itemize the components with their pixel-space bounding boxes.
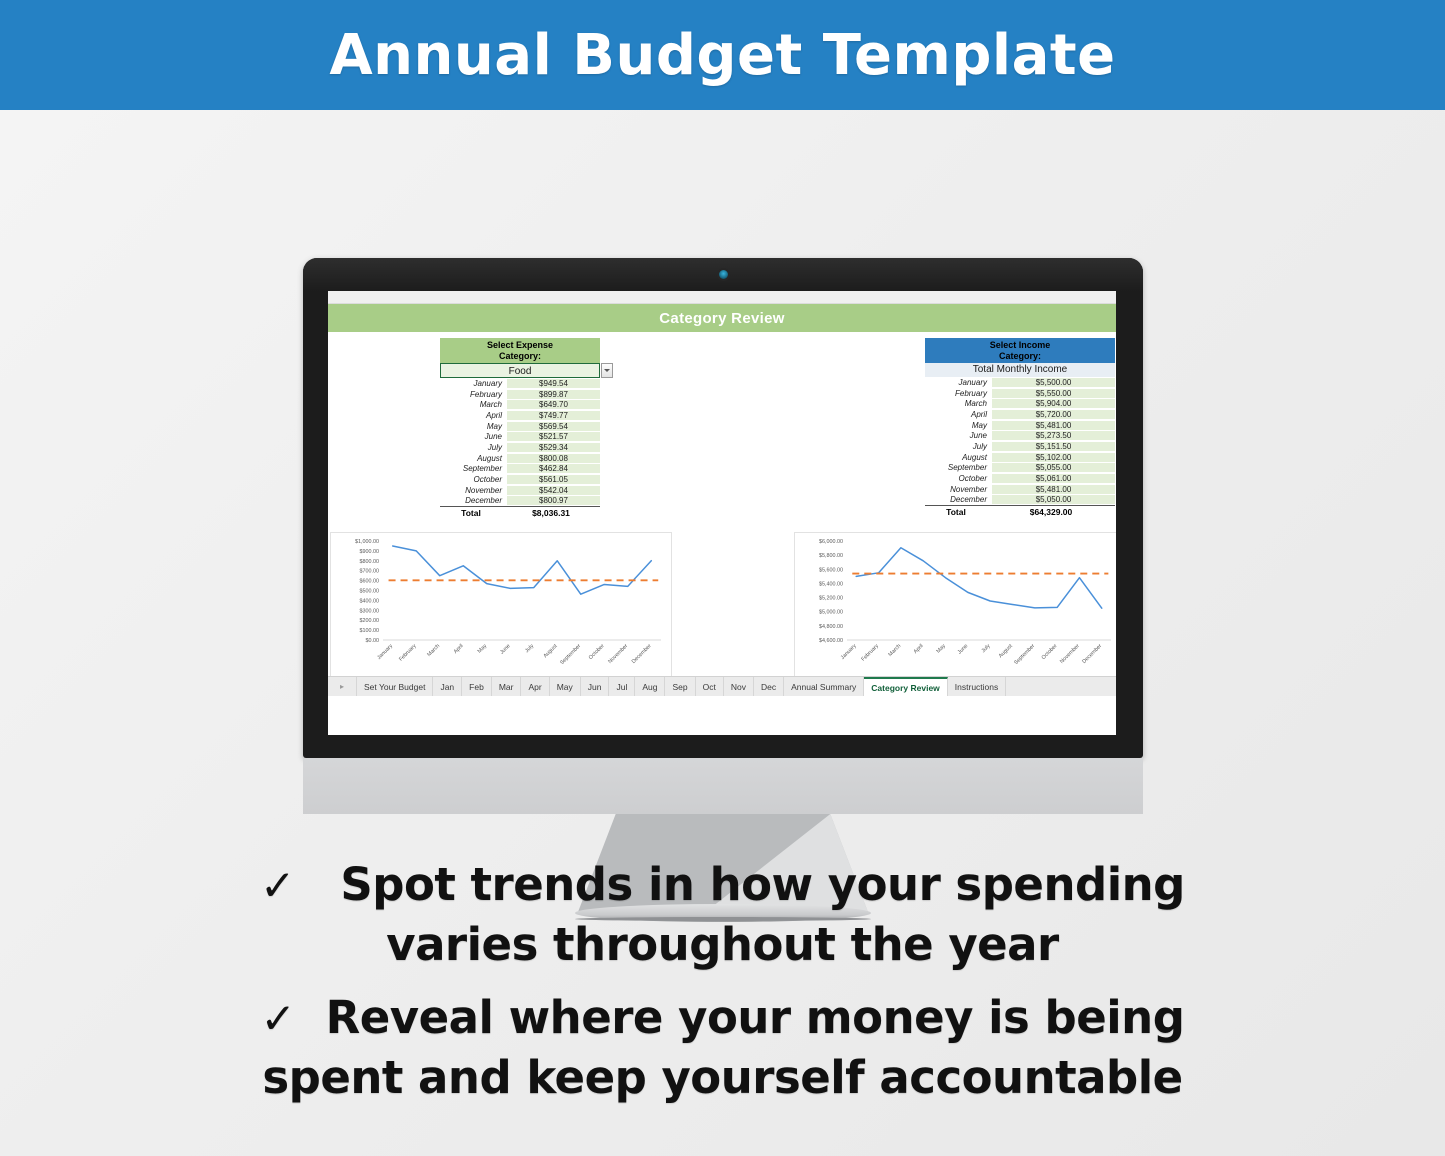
sheet-tab-mar[interactable]: Mar [492,677,522,696]
svg-text:$5,000.00: $5,000.00 [819,610,843,616]
svg-text:August: August [543,643,559,659]
feature-bullets: ✓ Spot trends in how your spending varie… [0,855,1445,1107]
month-label: June [925,431,992,440]
month-label: December [440,496,507,505]
month-value: $5,151.50 [992,442,1115,451]
month-value: $561.05 [507,475,600,484]
monitor-mockup: Category Review Select Expense Category:… [303,258,1143,758]
svg-text:$4,800.00: $4,800.00 [819,624,843,630]
table-row: February$5,550.00 [925,388,1115,399]
svg-text:$5,200.00: $5,200.00 [819,596,843,602]
sheet-tab-jan[interactable]: Jan [433,677,462,696]
sheet-tab-label: Jun [588,682,602,692]
table-row: March$5,904.00 [925,398,1115,409]
svg-text:March: March [887,643,902,658]
svg-text:December: December [631,643,653,665]
chevron-down-icon [604,369,610,372]
svg-text:November: November [1059,643,1081,665]
month-value: $949.54 [507,379,600,388]
table-row: January$5,500.00 [925,377,1115,388]
svg-text:January: January [840,643,858,661]
svg-text:$5,600.00: $5,600.00 [819,567,843,573]
table-row: September$5,055.00 [925,463,1115,474]
table-row: May$569.54 [440,421,600,432]
income-total-row: Total $64,329.00 [925,505,1115,518]
svg-text:$5,400.00: $5,400.00 [819,581,843,587]
table-row: April$749.77 [440,410,600,421]
sheet-tab-dec[interactable]: Dec [754,677,784,696]
sheet-tab-instructions[interactable]: Instructions [948,677,1006,696]
svg-text:$800.00: $800.00 [360,559,380,565]
month-label: September [925,463,992,472]
svg-text:April: April [453,643,465,655]
sheet-title-text: Category Review [659,310,784,327]
bullet-1: ✓ Spot trends in how your spending varie… [0,855,1445,974]
svg-text:$400.00: $400.00 [360,598,380,604]
table-row: October$561.05 [440,474,600,485]
month-value: $749.77 [507,411,600,420]
sheet-tabs: Set Your BudgetJanFebMarAprMayJunJulAugS… [357,677,1006,696]
income-category-select-row: Total Monthly Income [925,363,1115,377]
expense-chart[interactable]: $1,000.00$900.00$800.00$700.00$600.00$50… [330,532,672,679]
month-value: $569.54 [507,422,600,431]
month-label: April [925,410,992,419]
check-icon: ✓ [261,994,296,1043]
svg-text:August: August [998,643,1014,659]
table-row: August$800.08 [440,453,600,464]
svg-text:$200.00: $200.00 [360,618,380,624]
expense-panel-header: Select Expense Category: [440,338,600,363]
expense-total-value: $8,036.31 [502,508,600,518]
svg-text:$5,800.00: $5,800.00 [819,553,843,559]
month-value: $800.08 [507,454,600,463]
month-label: June [440,432,507,441]
sheet-tab-may[interactable]: May [550,677,581,696]
table-row: May$5,481.00 [925,420,1115,431]
table-row: August$5,102.00 [925,452,1115,463]
tab-nav-chevron-right-icon[interactable]: ▸ [328,677,357,696]
table-row: December$5,050.00 [925,495,1115,506]
screen-content: Category Review Select Expense Category:… [328,291,1116,735]
month-label: March [925,399,992,408]
sheet-tab-label: Jul [616,682,627,692]
income-chart[interactable]: $6,000.00$5,800.00$5,600.00$5,400.00$5,2… [794,532,1116,679]
svg-text:$600.00: $600.00 [360,579,380,585]
month-value: $5,481.00 [992,421,1115,430]
bullet-2-line2: spent and keep yourself accountable [0,1048,1445,1107]
svg-text:June: June [499,643,512,656]
month-value: $5,273.50 [992,431,1115,440]
sheet-tab-label: Annual Summary [791,682,856,692]
sheet-tab-nov[interactable]: Nov [724,677,754,696]
svg-text:$100.00: $100.00 [360,628,380,634]
table-row: June$5,273.50 [925,430,1115,441]
svg-text:July: July [981,643,992,654]
svg-text:June: June [957,643,970,656]
month-label: April [440,411,507,420]
month-label: February [925,389,992,398]
bullet-1-line2: varies throughout the year [0,915,1445,974]
month-value: $529.34 [507,443,600,452]
income-category-select[interactable]: Total Monthly Income [925,363,1115,377]
month-label: August [925,453,992,462]
svg-text:October: October [1041,643,1059,661]
month-label: May [925,421,992,430]
expense-header-line2: Category: [442,351,598,362]
sheet-tab-aug[interactable]: Aug [635,677,665,696]
month-value: $542.04 [507,486,600,495]
check-icon: ✓ [260,861,295,910]
svg-text:September: September [559,643,582,666]
table-row: December$800.97 [440,496,600,507]
svg-text:December: December [1081,643,1103,665]
sheet-tab-jun[interactable]: Jun [581,677,610,696]
month-label: November [925,485,992,494]
sheet-tab-label: Feb [469,682,484,692]
svg-text:March: March [426,643,441,658]
webcam-icon [719,270,728,279]
sheet-tab-set-your-budget[interactable]: Set Your Budget [357,677,433,696]
sheet-tab-oct[interactable]: Oct [696,677,724,696]
month-value: $5,481.00 [992,485,1115,494]
income-total-label: Total [925,507,987,517]
income-panel-header: Select Income Category: [925,338,1115,363]
svg-text:$700.00: $700.00 [360,569,380,575]
bullet-2-text1: Reveal where your money is being [326,991,1185,1044]
month-value: $462.84 [507,464,600,473]
month-label: November [440,486,507,495]
sheet-tab-label: Sep [672,682,687,692]
month-label: February [440,390,507,399]
svg-text:$1,000.00: $1,000.00 [355,539,379,545]
month-label: September [440,464,507,473]
expense-dropdown-button[interactable] [601,363,613,378]
svg-text:$500.00: $500.00 [360,589,380,595]
month-value: $800.97 [507,496,600,505]
month-label: October [925,474,992,483]
income-header-line1: Select Income [927,340,1113,351]
table-row: July$529.34 [440,442,600,453]
svg-text:February: February [398,643,418,663]
svg-text:September: September [1013,643,1036,666]
sheet-title-banner: Category Review [328,304,1116,332]
month-label: July [925,442,992,451]
expense-month-rows: January$949.54 February$899.87 March$649… [440,378,600,506]
month-value: $899.87 [507,390,600,399]
income-category-panel: Select Income Category: Total Monthly In… [925,338,1115,518]
table-row: November$5,481.00 [925,484,1115,495]
sheet-tab-label: May [557,682,573,692]
bullet-2: ✓ Reveal where your money is being spent… [0,988,1445,1107]
expense-total-row: Total $8,036.31 [440,506,600,519]
sheet-tab-label: Dec [761,682,776,692]
svg-text:October: October [588,643,606,661]
svg-text:May: May [935,643,947,655]
table-row: June$521.57 [440,431,600,442]
sheet-tab-label: Oct [703,682,716,692]
month-value: $5,050.00 [992,495,1115,504]
income-month-rows: January$5,500.00 February$5,550.00 March… [925,377,1115,505]
table-row: April$5,720.00 [925,409,1115,420]
month-label: January [440,379,507,388]
month-value: $5,061.00 [992,474,1115,483]
page-banner: Annual Budget Template [0,0,1445,110]
month-label: May [440,422,507,431]
table-row: September$462.84 [440,464,600,475]
spreadsheet-top-strip [328,291,1116,304]
svg-text:July: July [524,643,535,654]
sheet-tab-label: Category Review [871,683,940,693]
page-title: Annual Budget Template [329,23,1115,88]
expense-category-select-row: Food [440,363,600,378]
svg-text:$900.00: $900.00 [360,549,380,555]
sheet-tab-category-review[interactable]: Category Review [864,677,948,696]
svg-text:$300.00: $300.00 [360,608,380,614]
monitor-chin [303,758,1143,814]
sheet-tab-annual-summary[interactable]: Annual Summary [784,677,864,696]
table-row: January$949.54 [440,378,600,389]
sheet-tab-label: Apr [528,682,541,692]
bullet-1-line1: ✓ Spot trends in how your spending [0,855,1445,915]
svg-text:$6,000.00: $6,000.00 [819,539,843,545]
svg-text:November: November [607,643,629,665]
svg-text:April: April [913,643,925,655]
svg-text:May: May [477,643,489,655]
month-label: October [440,475,507,484]
month-label: January [925,378,992,387]
month-label: March [440,400,507,409]
table-row: February$899.87 [440,389,600,400]
sheet-tab-apr[interactable]: Apr [521,677,549,696]
svg-text:$0.00: $0.00 [366,638,380,644]
month-value: $5,550.00 [992,389,1115,398]
sheet-body: Select Expense Category: Food January$94… [328,332,1116,696]
bullet-2-line1: ✓ Reveal where your money is being [0,988,1445,1048]
expense-total-label: Total [440,508,502,518]
income-header-line2: Category: [927,351,1113,362]
sheet-tab-label: Jan [440,682,454,692]
sheet-tab-label: Instructions [955,682,998,692]
month-value: $521.57 [507,432,600,441]
sheet-tab-feb[interactable]: Feb [462,677,492,696]
month-value: $649.70 [507,400,600,409]
table-row: March$649.70 [440,399,600,410]
month-value: $5,500.00 [992,378,1115,387]
expense-category-select[interactable]: Food [440,363,600,378]
table-row: October$5,061.00 [925,473,1115,484]
sheet-tab-label: Nov [731,682,746,692]
sheet-tab-label: Aug [642,682,657,692]
svg-text:February: February [860,643,880,663]
svg-text:$4,600.00: $4,600.00 [819,638,843,644]
expense-header-line1: Select Expense [442,340,598,351]
month-value: $5,720.00 [992,410,1115,419]
svg-text:January: January [376,643,394,661]
sheet-tab-label: Set Your Budget [364,682,425,692]
monitor-bezel: Category Review Select Expense Category:… [303,258,1143,758]
expense-category-panel: Select Expense Category: Food January$94… [440,338,600,519]
month-label: August [440,454,507,463]
sheet-tab-jul[interactable]: Jul [609,677,635,696]
month-value: $5,102.00 [992,453,1115,462]
table-row: November$542.04 [440,485,600,496]
table-row: July$5,151.50 [925,441,1115,452]
income-total-value: $64,329.00 [987,507,1115,517]
sheet-tab-sep[interactable]: Sep [665,677,695,696]
bullet-1-text1: Spot trends in how your spending [340,858,1185,911]
month-label: December [925,495,992,504]
sheet-tab-bar: ▸ Set Your BudgetJanFebMarAprMayJunJulAu… [328,676,1116,696]
month-label: July [440,443,507,452]
month-value: $5,904.00 [992,399,1115,408]
sheet-tab-label: Mar [499,682,514,692]
month-value: $5,055.00 [992,463,1115,472]
